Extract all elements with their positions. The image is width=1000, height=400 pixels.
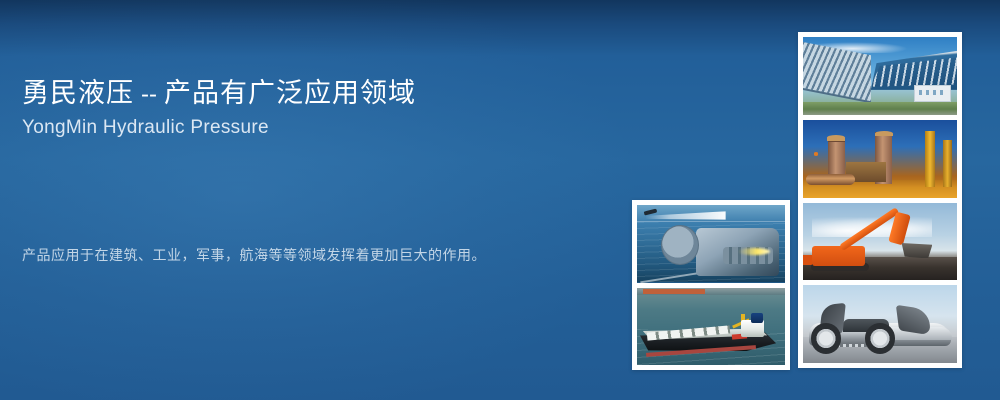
banner-description: 产品应用于在建筑、工业，军事，航海等等领域发挥着更加巨大的作用。: [22, 238, 492, 272]
photo-modern-architecture[interactable]: [803, 37, 957, 115]
photo-petrochemical-plant[interactable]: [803, 120, 957, 198]
banner-title-separator: --: [134, 81, 164, 108]
plant-stack-cap-1: [827, 135, 845, 140]
photo-concept-car[interactable]: [803, 285, 957, 363]
plant-stack-cap-2: [875, 131, 893, 136]
car-wheel-rear: [865, 323, 896, 354]
banner-title-cn-left: 勇民液压: [22, 78, 134, 108]
plant-warning-lamp-icon: [814, 152, 819, 155]
ship-funnel: [751, 313, 763, 323]
banner-title-cn-right: 产品有广泛应用领域: [164, 78, 416, 108]
banner-subtitle-en: YongMin Hydraulic Pressure: [22, 116, 269, 140]
missile-icon: [644, 209, 658, 216]
industry-panel[interactable]: [798, 32, 962, 368]
hero-banner: 勇民液压--产品有广泛应用领域 YongMin Hydraulic Pressu…: [0, 0, 1000, 400]
plant-derrick-tower-1: [925, 131, 936, 187]
photo-naval-missile-launch[interactable]: [637, 205, 785, 283]
far-shore-quay: [637, 288, 785, 296]
landscaped-ground: [803, 102, 957, 114]
building-podium: [914, 85, 951, 102]
plant-derrick-tower-2: [943, 140, 952, 187]
launch-flash-icon: [738, 248, 771, 255]
car-wheel-front: [811, 323, 842, 354]
photo-excavator[interactable]: [803, 203, 957, 281]
banner-title: 勇民液压--产品有广泛应用领域: [22, 78, 416, 110]
excavator-grapple-bucket: [902, 243, 933, 259]
banner-copy-block: 勇民液压--产品有广泛应用领域 YongMin Hydraulic Pressu…: [22, 0, 582, 400]
photo-cargo-ship[interactable]: [637, 288, 785, 366]
excavator-body: [812, 246, 864, 266]
marine-defense-panel[interactable]: [632, 200, 790, 370]
plant-storage-tank: [806, 174, 855, 185]
